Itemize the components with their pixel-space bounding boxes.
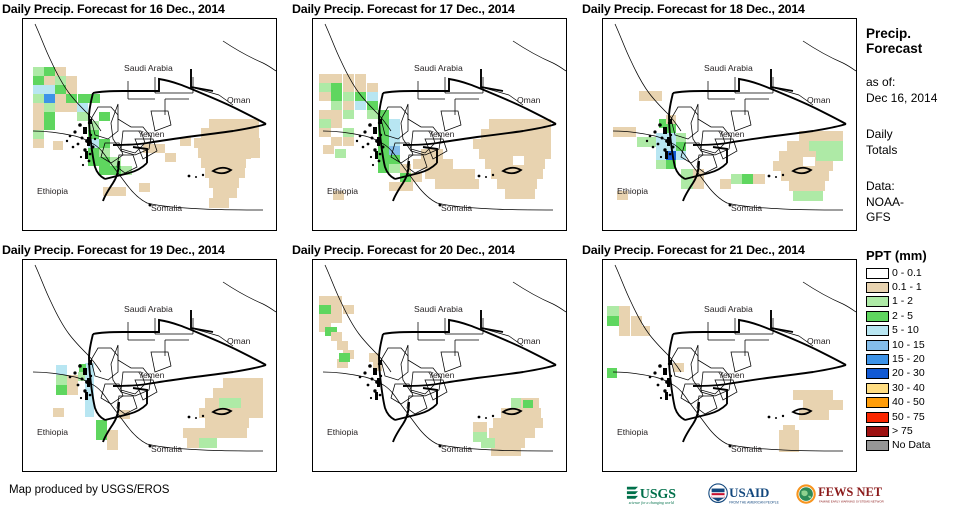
svg-text:USGS: USGS	[640, 486, 676, 501]
legend-item[interactable]: 10 - 15	[866, 338, 967, 352]
forecast-panel-16-dec[interactable]: Daily Precip. Forecast for 16 Dec., 2014	[0, 0, 278, 232]
as-of-label: as of:	[866, 75, 937, 91]
legend-swatch	[866, 440, 889, 451]
legend-item[interactable]: 15 - 20	[866, 352, 967, 366]
data-label: Data:	[866, 179, 904, 195]
legend-label: 40 - 50	[892, 397, 925, 408]
usgs-logo[interactable]: USGS science for a changing world	[626, 483, 698, 507]
legend-label: 0 - 0.1	[892, 268, 922, 279]
legend-item[interactable]: 50 - 75	[866, 410, 967, 424]
legend-label: 50 - 75	[892, 412, 925, 423]
label-somalia: Somalia	[441, 444, 472, 454]
legend-item[interactable]: 0.1 - 1	[866, 280, 967, 294]
legend-swatch	[866, 268, 889, 279]
label-yemen: Yemen	[428, 370, 455, 380]
map-canvas[interactable]: Saudi Arabia Oman Yemen Ethiopia Somalia	[22, 18, 277, 231]
legend-label: 5 - 10	[892, 325, 919, 336]
legend-item[interactable]: 30 - 40	[866, 381, 967, 395]
label-ethiopia: Ethiopia	[37, 427, 68, 437]
label-ethiopia: Ethiopia	[617, 427, 648, 437]
map-svg: Saudi Arabia Oman Yemen Ethiopia Somalia	[313, 19, 566, 230]
legend-swatch	[866, 354, 889, 365]
data-line2: GFS	[866, 210, 904, 226]
map-canvas[interactable]: Saudi Arabia Oman Yemen Ethiopia Somalia	[22, 259, 277, 472]
map-svg: Saudi Arabia Oman Yemen Ethiopia Somalia	[603, 19, 856, 230]
info-data-source: Data: NOAA- GFS	[866, 179, 904, 226]
map-canvas[interactable]: Saudi Arabia Oman Yemen Ethiopia Somalia	[602, 18, 857, 231]
footer-logos: USGS science for a changing world USAID …	[626, 482, 884, 508]
label-oman: Oman	[227, 95, 251, 105]
info-title-line2: Forecast	[866, 41, 922, 56]
forecast-panel-19-dec[interactable]: Daily Precip. Forecast for 19 Dec., 2014	[0, 241, 278, 473]
label-oman: Oman	[517, 336, 541, 346]
legend-label: > 75	[892, 426, 913, 437]
legend-swatch	[866, 426, 889, 437]
panel-title: Daily Precip. Forecast for 19 Dec., 2014	[0, 241, 278, 259]
label-yemen: Yemen	[138, 370, 165, 380]
legend-swatch	[866, 325, 889, 336]
map-svg: Saudi Arabia Oman Yemen Ethiopia Somalia	[23, 260, 276, 471]
legend-label: No Data	[892, 440, 931, 451]
data-line1: NOAA-	[866, 195, 904, 211]
legend-item[interactable]: No Data	[866, 439, 967, 453]
totals-line1: Daily	[866, 127, 897, 143]
legend-swatch	[866, 383, 889, 394]
svg-text:FROM THE AMERICAN PEOPLE: FROM THE AMERICAN PEOPLE	[729, 500, 779, 504]
forecast-panel-21-dec[interactable]: Daily Precip. Forecast for 21 Dec., 2014	[580, 241, 858, 473]
as-of-date: Dec 16, 2014	[866, 91, 937, 107]
legend-item[interactable]: 20 - 30	[866, 367, 967, 381]
precip-cells	[613, 91, 843, 201]
legend-label: 15 - 20	[892, 354, 925, 365]
info-title: Precip. Forecast	[866, 26, 922, 56]
label-somalia: Somalia	[151, 444, 182, 454]
label-yemen: Yemen	[718, 370, 745, 380]
forecast-panel-18-dec[interactable]: Daily Precip. Forecast for 18 Dec., 2014	[580, 0, 858, 232]
label-yemen: Yemen	[428, 129, 455, 139]
usaid-logo[interactable]: USAID FROM THE AMERICAN PEOPLE	[707, 483, 786, 507]
forecast-panel-17-dec[interactable]: Daily Precip. Forecast for 17 Dec., 2014	[290, 0, 568, 232]
panel-title: Daily Precip. Forecast for 21 Dec., 2014	[580, 241, 858, 259]
label-ethiopia: Ethiopia	[37, 186, 68, 196]
panel-title: Daily Precip. Forecast for 20 Dec., 2014	[290, 241, 568, 259]
label-oman: Oman	[807, 95, 831, 105]
legend-title: PPT (mm)	[866, 248, 967, 263]
legend-swatch	[866, 397, 889, 408]
map-svg: Saudi Arabia Oman Yemen Ethiopia Somalia	[603, 260, 856, 471]
label-ethiopia: Ethiopia	[327, 186, 358, 196]
legend-label: 10 - 15	[892, 340, 925, 351]
svg-text:FEWS NET: FEWS NET	[818, 485, 883, 499]
label-saudi-arabia: Saudi Arabia	[124, 63, 173, 73]
label-ethiopia: Ethiopia	[327, 427, 358, 437]
svg-text:USAID: USAID	[729, 485, 769, 500]
map-canvas[interactable]: Saudi Arabia Oman Yemen Ethiopia Somalia	[312, 18, 567, 231]
legend-item[interactable]: 1 - 2	[866, 295, 967, 309]
forecast-panel-20-dec[interactable]: Daily Precip. Forecast for 20 Dec., 2014	[290, 241, 568, 473]
legend-label: 2 - 5	[892, 311, 913, 322]
legend-swatch	[866, 282, 889, 293]
panel-title: Daily Precip. Forecast for 18 Dec., 2014	[580, 0, 858, 18]
precipitation-legend: PPT (mm) 0 - 0.1 0.1 - 1 1 - 2 2 - 5 5 -…	[866, 248, 967, 453]
label-somalia: Somalia	[441, 203, 472, 213]
legend-swatch	[866, 296, 889, 307]
fews-net-logo[interactable]: FEWS NET FAMINE EARLY WARNING SYSTEMS NE…	[795, 483, 884, 507]
label-ethiopia: Ethiopia	[617, 186, 648, 196]
label-somalia: Somalia	[731, 203, 762, 213]
legend-label: 20 - 30	[892, 368, 925, 379]
label-saudi-arabia: Saudi Arabia	[704, 63, 753, 73]
panel-title: Daily Precip. Forecast for 17 Dec., 2014	[290, 0, 568, 18]
info-title-line1: Precip.	[866, 26, 922, 41]
country-borders-thick	[669, 310, 846, 442]
country-borders-thin	[613, 265, 856, 451]
map-credit: Map produced by USGS/EROS	[9, 484, 169, 496]
legend-label: 0.1 - 1	[892, 282, 922, 293]
label-yemen: Yemen	[718, 129, 745, 139]
map-canvas[interactable]: Saudi Arabia Oman Yemen Ethiopia Somalia	[602, 259, 857, 472]
svg-text:FAMINE EARLY WARNING SYSTEMS N: FAMINE EARLY WARNING SYSTEMS NETWORK	[819, 499, 884, 503]
label-oman: Oman	[807, 336, 831, 346]
panel-title: Daily Precip. Forecast for 16 Dec., 2014	[0, 0, 278, 18]
legend-label: 1 - 2	[892, 296, 913, 307]
map-svg: Saudi Arabia Oman Yemen Ethiopia Somalia	[23, 19, 276, 230]
legend-item[interactable]: 2 - 5	[866, 309, 967, 323]
legend-item[interactable]: 40 - 50	[866, 396, 967, 410]
info-totals: Daily Totals	[866, 127, 897, 158]
label-oman: Oman	[517, 95, 541, 105]
legend-label: 30 - 40	[892, 383, 925, 394]
forecast-panel-grid: Daily Precip. Forecast for 16 Dec., 2014	[0, 0, 858, 478]
label-saudi-arabia: Saudi Arabia	[704, 304, 753, 314]
legend-swatch	[866, 311, 889, 322]
label-somalia: Somalia	[151, 203, 182, 213]
label-yemen: Yemen	[138, 129, 165, 139]
info-as-of: as of: Dec 16, 2014	[866, 75, 937, 106]
legend-item[interactable]: > 75	[866, 424, 967, 438]
label-saudi-arabia: Saudi Arabia	[124, 304, 173, 314]
label-saudi-arabia: Saudi Arabia	[414, 304, 463, 314]
label-somalia: Somalia	[731, 444, 762, 454]
map-canvas[interactable]: Saudi Arabia Oman Yemen Ethiopia Somalia	[312, 259, 567, 472]
legend-swatch	[866, 368, 889, 379]
legend-item[interactable]: 0 - 0.1	[866, 266, 967, 280]
label-oman: Oman	[227, 336, 251, 346]
map-svg: Saudi Arabia Oman Yemen Ethiopia Somalia	[313, 260, 566, 471]
totals-line2: Totals	[866, 143, 897, 159]
svg-text:science for a changing world: science for a changing world	[629, 501, 674, 505]
country-borders-thin	[33, 24, 276, 210]
legend-item[interactable]: 5 - 10	[866, 324, 967, 338]
label-saudi-arabia: Saudi Arabia	[414, 63, 463, 73]
legend-swatch	[866, 340, 889, 351]
legend-swatch	[866, 412, 889, 423]
